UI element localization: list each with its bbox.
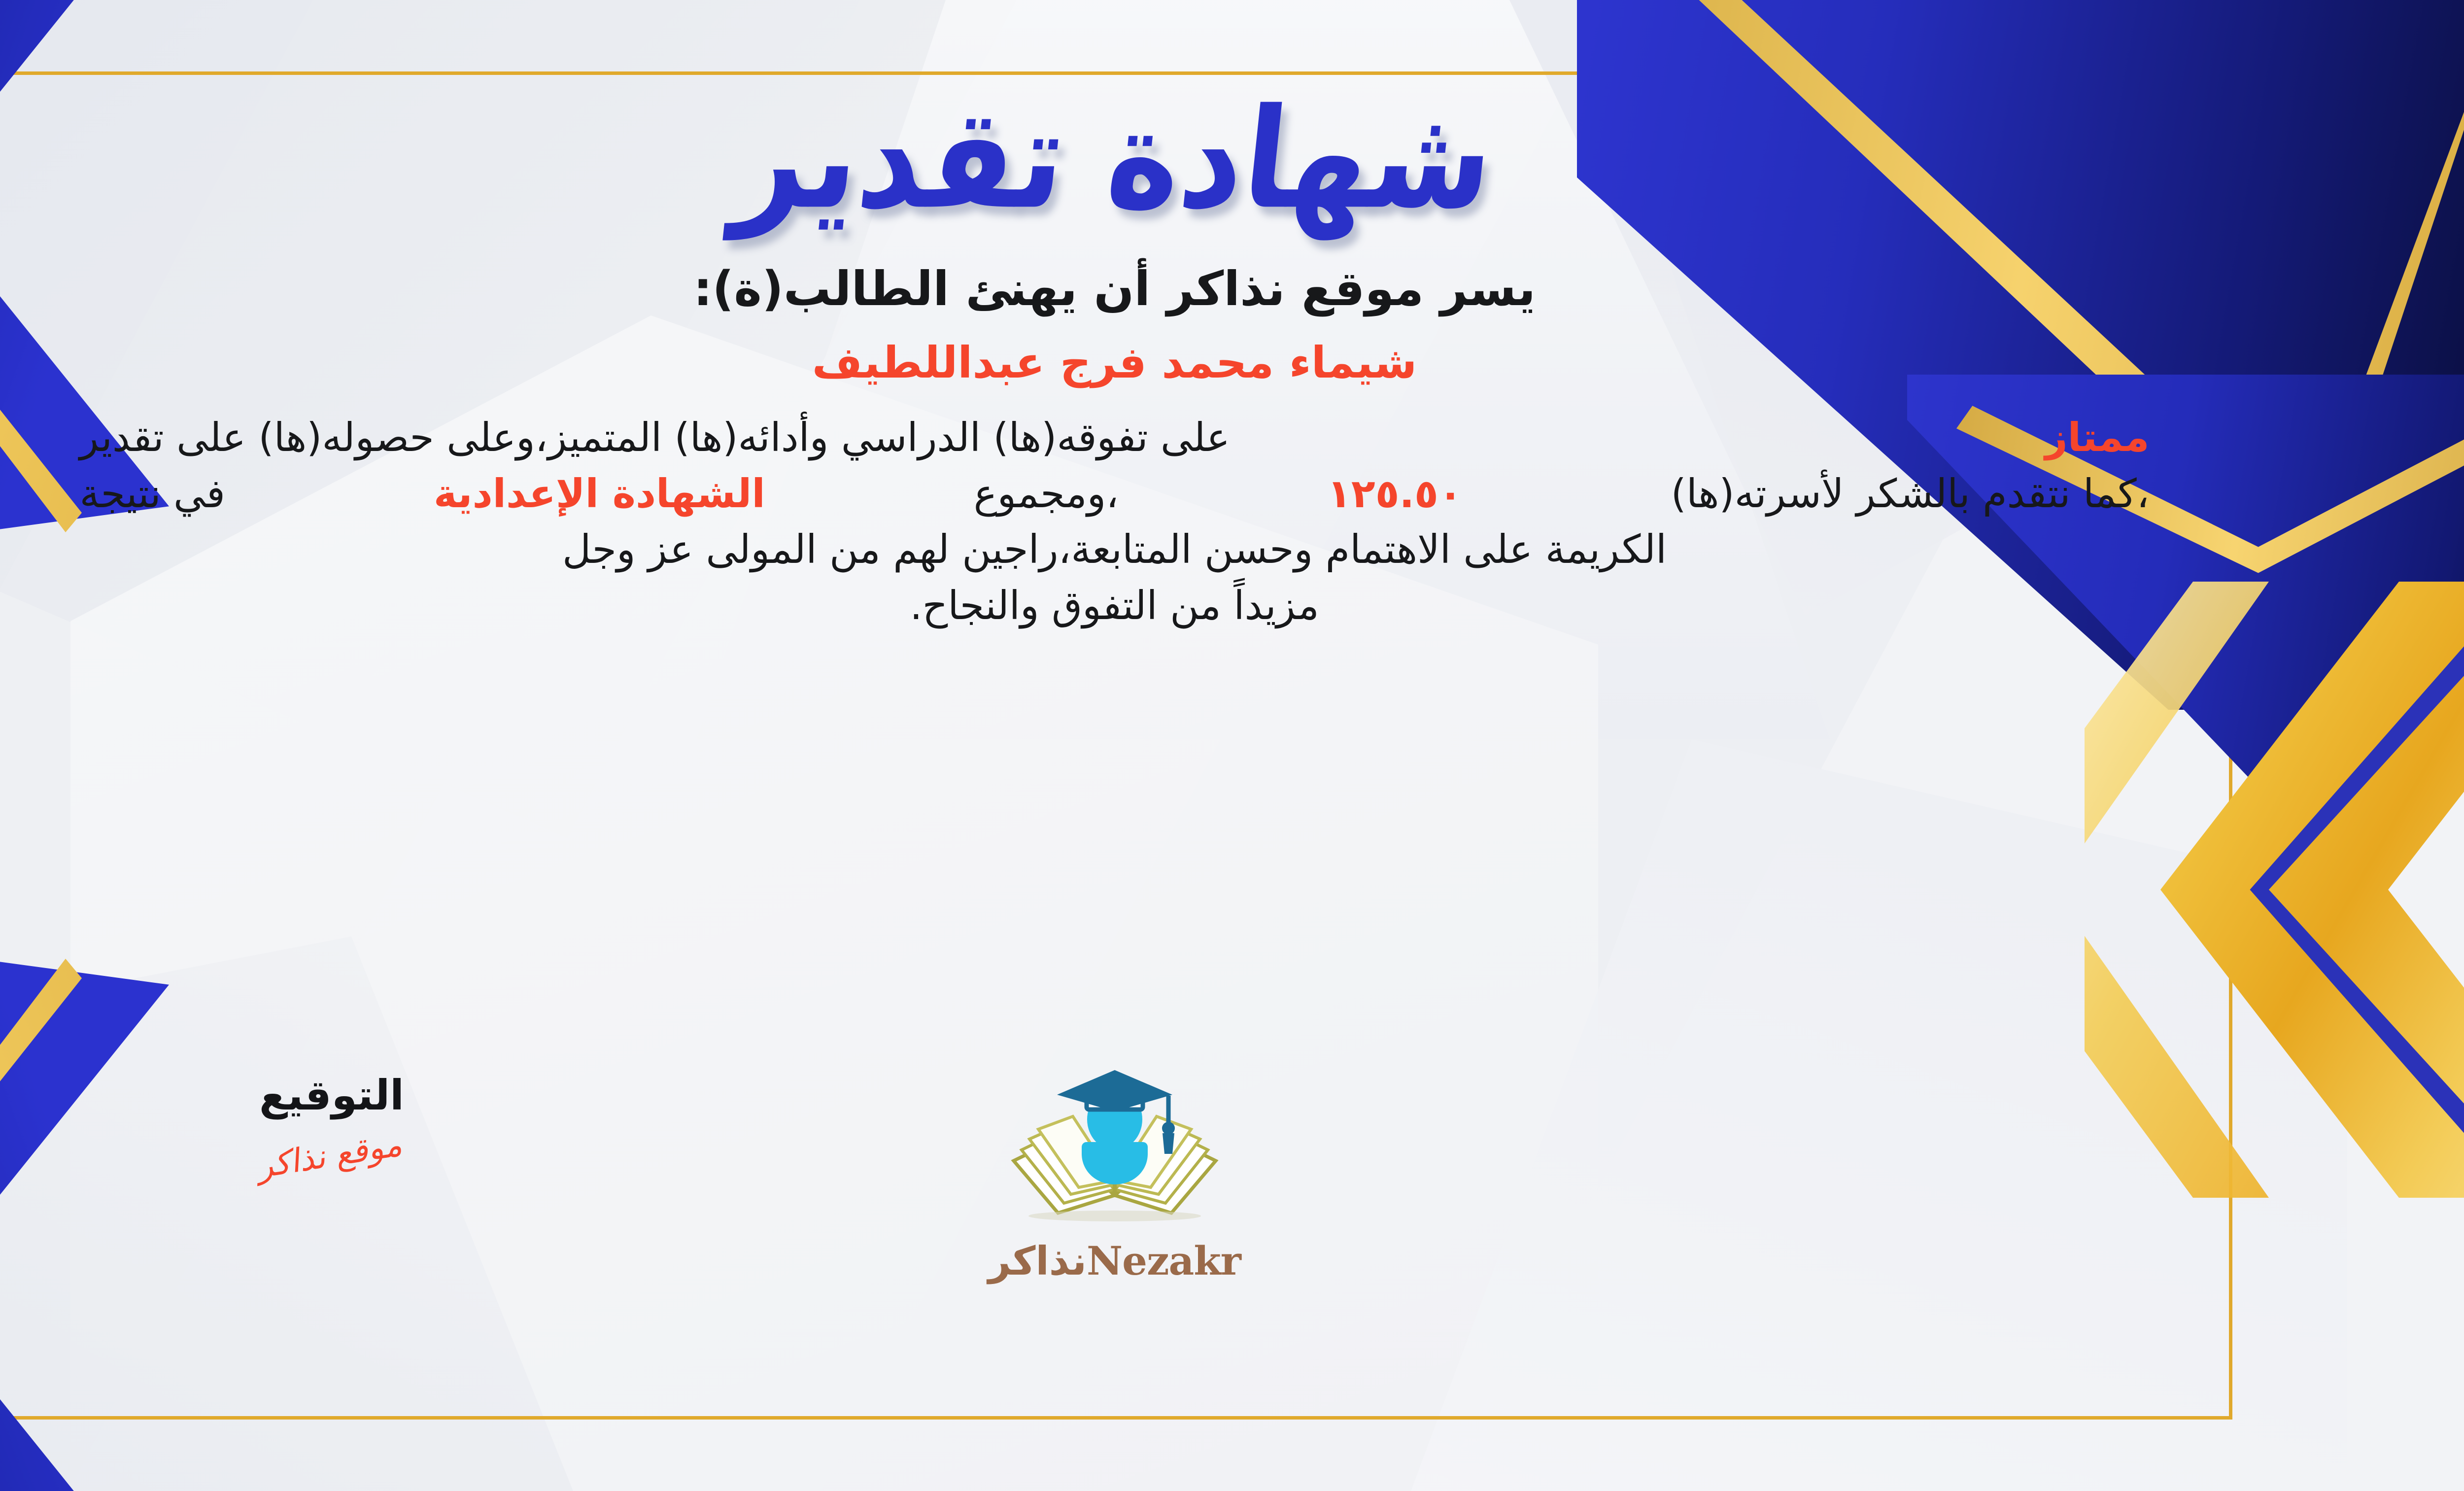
logo-arabic-text: نذاكر [988, 1238, 1087, 1284]
body-line-1: ممتاز على تفوقه(ها) الدراسي وأدائه(ها) ا… [80, 410, 2150, 466]
intro-line: يسر موقع نذاكر أن يهنئ الطالب(ة): [693, 261, 1536, 316]
logo-wordmark: Nezakrنذاكر [927, 1238, 1302, 1284]
total-score-value: ١٢٥.٥٠ [1327, 466, 1463, 522]
certificate-body: ممتاز على تفوقه(ها) الدراسي وأدائه(ها) ا… [80, 410, 2150, 633]
certificate-title: شهادة تقدير [729, 90, 1500, 228]
student-name: شيماء محمد فرج عبداللطيف [812, 337, 1417, 388]
body-line-2-head: في نتيجة [80, 466, 225, 522]
signature-block: التوقيع موقع نذاكر [159, 1071, 504, 1174]
body-line-3-text: الكريمة على الاهتمام وحسن المتابعة،راجين… [562, 521, 1667, 578]
certificate-canvas: شهادة تقدير يسر موقع نذاكر أن يهنئ الطال… [0, 0, 2464, 1491]
body-line-2-mid: ،ومجموع [974, 466, 1119, 522]
signature-label: التوقيع [159, 1071, 504, 1119]
graduate-book-logo-icon [999, 1067, 1231, 1235]
body-line-1-text: على تفوقه(ها) الدراسي وأدائه(ها) المتميز… [80, 410, 1230, 466]
site-logo: Nezakrنذاكر [927, 1067, 1302, 1284]
body-line-2: ،كما نتقدم بالشكر لأسرته(ها) ١٢٥.٥٠ ،ومج… [80, 466, 2150, 522]
certificate-content: شهادة تقدير يسر موقع نذاكر أن يهنئ الطال… [1, 75, 2227, 1416]
certificate-footer: التوقيع موقع نذاكر [1, 1071, 2227, 1387]
signature-mark: موقع نذاكر [259, 1124, 405, 1186]
grade-value: ممتاز [2045, 410, 2150, 466]
body-line-4-text: مزيداً من التفوق والنجاح. [910, 578, 1319, 634]
body-line-3: الكريمة على الاهتمام وحسن المتابعة،راجين… [80, 521, 2150, 578]
body-line-2-tail: ،كما نتقدم بالشكر لأسرته(ها) [1671, 466, 2150, 522]
body-line-4: مزيداً من التفوق والنجاح. [80, 578, 2150, 634]
exam-name-value: الشهادة الإعدادية [434, 466, 765, 522]
logo-latin-text: Nezakr [1087, 1238, 1241, 1284]
